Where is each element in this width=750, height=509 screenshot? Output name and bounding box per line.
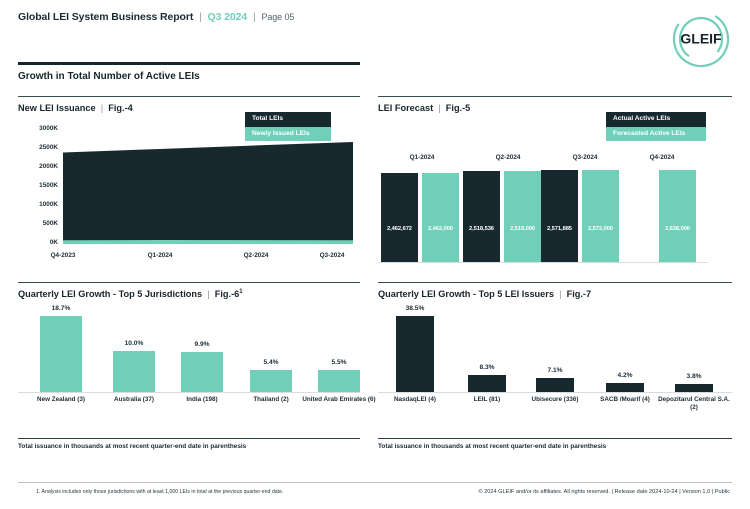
chart-fig7-plot: 38.5% 8.3% 7.1% 4.2% 3.8% bbox=[378, 308, 732, 392]
chart-fig5-plot: 2,462,672 2,462,000 2,518,536 2,519,000 … bbox=[378, 170, 732, 262]
chart-figno-fig6: Fig.-6 bbox=[215, 289, 240, 299]
cat-label-depozitarul-central: Depozitarul Central S.A. (2) bbox=[655, 396, 733, 412]
bar-forecast-q3-2024: 2,572,000 bbox=[582, 170, 619, 262]
gleif-logo-text: GLEIF bbox=[680, 31, 722, 47]
axis-line-fig6 bbox=[18, 392, 360, 393]
chart-title-fig7: Quarterly LEI Growth - Top 5 LEI Issuers bbox=[378, 289, 554, 299]
gleif-logo-icon: GLEIF bbox=[670, 8, 732, 70]
xtick-q4-2023: Q4-2023 bbox=[38, 252, 88, 259]
report-title: Global LEI System Business Report bbox=[18, 11, 193, 23]
ytick-2500: 2500K bbox=[18, 144, 58, 151]
ytick-1000: 1000K bbox=[18, 201, 58, 208]
ytick-0: 0K bbox=[18, 239, 58, 246]
report-quarter: Q3 2024 bbox=[208, 11, 248, 23]
bar-label-nasdaqlei: 38.5% bbox=[396, 305, 434, 312]
note-left: Total issuance in thousands at most rece… bbox=[18, 443, 246, 450]
bar-forecast-q4-2024: 2,638,000 bbox=[659, 170, 696, 262]
xtick-q3-2024: Q3-2024 bbox=[307, 252, 357, 259]
bar-label-actual-q1-2024: 2,462,672 bbox=[381, 226, 418, 232]
axis-line-fig5 bbox=[378, 262, 708, 263]
bar-label-australia: 10.0% bbox=[113, 340, 155, 347]
chart-figno-fig5: Fig.-5 bbox=[446, 103, 471, 113]
bar-thailand: 5.4% bbox=[250, 370, 292, 392]
note-rule-right bbox=[378, 438, 732, 439]
bar-india: 9.9% bbox=[181, 352, 223, 392]
cat-label-india: India (198) bbox=[162, 396, 242, 404]
ytick-500: 500K bbox=[18, 220, 58, 227]
bar-forecast-q1-2024: 2,462,000 bbox=[422, 173, 459, 262]
ytick-1500: 1500K bbox=[18, 182, 58, 189]
cat-label-new-zealand: New Zealand (3) bbox=[21, 396, 101, 404]
bar-forecast-q2-2024: 2,519,000 bbox=[504, 171, 541, 262]
bar-label-actual-q3-2024: 2,571,885 bbox=[541, 226, 578, 232]
bar-actual-q2-2024: 2,518,536 bbox=[463, 171, 500, 262]
bar-sacb-moarif: 4.2% bbox=[606, 383, 644, 392]
group-label-q1-2024: Q1-2024 bbox=[378, 154, 466, 161]
bar-actual-q1-2024: 2,462,672 bbox=[381, 173, 418, 262]
bar-label-actual-q2-2024: 2,518,536 bbox=[463, 226, 500, 232]
footer-rule bbox=[18, 482, 732, 483]
legend-item-actual-active-leis: Actual Active LEIs bbox=[606, 112, 706, 127]
bar-label-forecast-q4-2024: 2,638,000 bbox=[659, 226, 696, 232]
panel-rule-fig7 bbox=[378, 282, 732, 283]
chart-title-fig6: Quarterly LEI Growth - Top 5 Jurisdictio… bbox=[18, 289, 202, 299]
bar-label-new-zealand: 18.7% bbox=[40, 305, 82, 312]
bar-australia: 10.0% bbox=[113, 351, 155, 392]
chart-fig4-plot: 0K 500K 1000K 1500K 2000K 2500K 3000K Q4… bbox=[18, 128, 358, 260]
xtick-q2-2024: Q2-2024 bbox=[231, 252, 281, 259]
bar-label-forecast-q2-2024: 2,519,000 bbox=[504, 226, 541, 232]
panel-title-fig7: Quarterly LEI Growth - Top 5 LEI Issuers… bbox=[378, 289, 591, 299]
ytick-3000: 3000K bbox=[18, 125, 58, 132]
group-label-q2-2024: Q2-2024 bbox=[464, 154, 552, 161]
header-separator-1: | bbox=[199, 11, 202, 23]
chart-fig6-plot: 18.7% 10.0% 9.9% 5.4% 5.5% bbox=[18, 308, 360, 392]
section-title: Growth in Total Number of Active LEIs bbox=[18, 71, 200, 82]
bar-label-forecast-q1-2024: 2,462,000 bbox=[422, 226, 459, 232]
panel-title-fig5: LEI Forecast | Fig.-5 bbox=[378, 103, 470, 113]
bar-label-ubisecure: 7.1% bbox=[536, 367, 574, 374]
note-right: Total issuance in thousands at most rece… bbox=[378, 443, 606, 450]
gleif-logo: GLEIF bbox=[670, 8, 732, 70]
bar-ubisecure: 7.1% bbox=[536, 378, 574, 392]
area-series-group bbox=[63, 128, 353, 248]
bar-label-leil: 8.3% bbox=[468, 364, 506, 371]
panel-rule-fig4 bbox=[18, 96, 360, 97]
group-label-q4-2024: Q4-2024 bbox=[618, 154, 706, 161]
bar-label-thailand: 5.4% bbox=[250, 359, 292, 366]
area-newly-issued-leis bbox=[63, 240, 353, 244]
page-header: Global LEI System Business Report | Q3 2… bbox=[18, 11, 294, 23]
panel-rule-fig5 bbox=[378, 96, 732, 97]
panel-title-fig4: New LEI Issuance | Fig.-4 bbox=[18, 103, 133, 113]
cat-label-thailand: Thailand (2) bbox=[231, 396, 311, 404]
chart-title-fig5: LEI Forecast bbox=[378, 103, 433, 113]
cat-label-united-arab-emirates: United Arab Emirates (6) bbox=[301, 396, 377, 404]
page-number: Page 05 bbox=[261, 12, 294, 22]
cat-label-ubisecure: Ubisecure (336) bbox=[515, 396, 595, 404]
cat-label-nasdaqlei: NasdaqLEI (4) bbox=[375, 396, 455, 404]
chart-figno-fig6-superscript: 1 bbox=[239, 289, 242, 295]
bar-label-depozitarul-central: 3.8% bbox=[675, 373, 713, 380]
panel-title-fig6: Quarterly LEI Growth - Top 5 Jurisdictio… bbox=[18, 289, 243, 299]
header-separator-2: | bbox=[253, 11, 256, 23]
legend-item-total-leis: Total LEIs bbox=[245, 112, 331, 127]
chart-title-fig4: New LEI Issuance bbox=[18, 103, 96, 113]
panel-top5-lei-issuers: Quarterly LEI Growth - Top 5 LEI Issuers… bbox=[378, 282, 732, 442]
panel-rule-fig6 bbox=[18, 282, 360, 283]
panel-top5-jurisdictions: Quarterly LEI Growth - Top 5 Jurisdictio… bbox=[18, 282, 360, 442]
area-total-leis bbox=[63, 142, 353, 244]
report-page: Global LEI System Business Report | Q3 2… bbox=[0, 0, 750, 509]
bar-actual-q3-2024: 2,571,885 bbox=[541, 170, 578, 262]
chart-figno-fig4: Fig.-4 bbox=[108, 103, 133, 113]
section-rule bbox=[18, 62, 360, 65]
bar-leil: 8.3% bbox=[468, 375, 506, 392]
note-rule-left bbox=[18, 438, 360, 439]
bar-label-united-arab-emirates: 5.5% bbox=[318, 359, 360, 366]
bar-label-forecast-q3-2024: 2,572,000 bbox=[582, 226, 619, 232]
panel-lei-forecast: LEI Forecast | Fig.-5 Actual Active LEIs… bbox=[378, 96, 732, 271]
bar-label-sacb-moarif: 4.2% bbox=[606, 372, 644, 379]
bar-new-zealand: 18.7% bbox=[40, 316, 82, 392]
copyright-line: © 2024 GLEIF and/or its affiliates. All … bbox=[478, 489, 730, 495]
legend-item-forecasted-active-leis: Forecasted Active LEIs bbox=[606, 127, 706, 142]
chart-figno-fig7: Fig.-7 bbox=[567, 289, 592, 299]
xtick-q1-2024: Q1-2024 bbox=[135, 252, 185, 259]
legend-fig5: Actual Active LEIs Forecasted Active LEI… bbox=[606, 112, 706, 141]
bar-depozitarul-central: 3.8% bbox=[675, 384, 713, 392]
bar-label-india: 9.9% bbox=[181, 341, 223, 348]
bar-nasdaqlei: 38.5% bbox=[396, 316, 434, 392]
bar-united-arab-emirates: 5.5% bbox=[318, 370, 360, 392]
cat-label-sacb-moarif: SACB /Moarif (4) bbox=[585, 396, 665, 404]
footnote-1: 1. Analysis includes only those jurisdic… bbox=[36, 489, 283, 495]
ytick-2000: 2000K bbox=[18, 163, 58, 170]
axis-line-fig7 bbox=[378, 392, 732, 393]
group-label-q3-2024: Q3-2024 bbox=[541, 154, 629, 161]
